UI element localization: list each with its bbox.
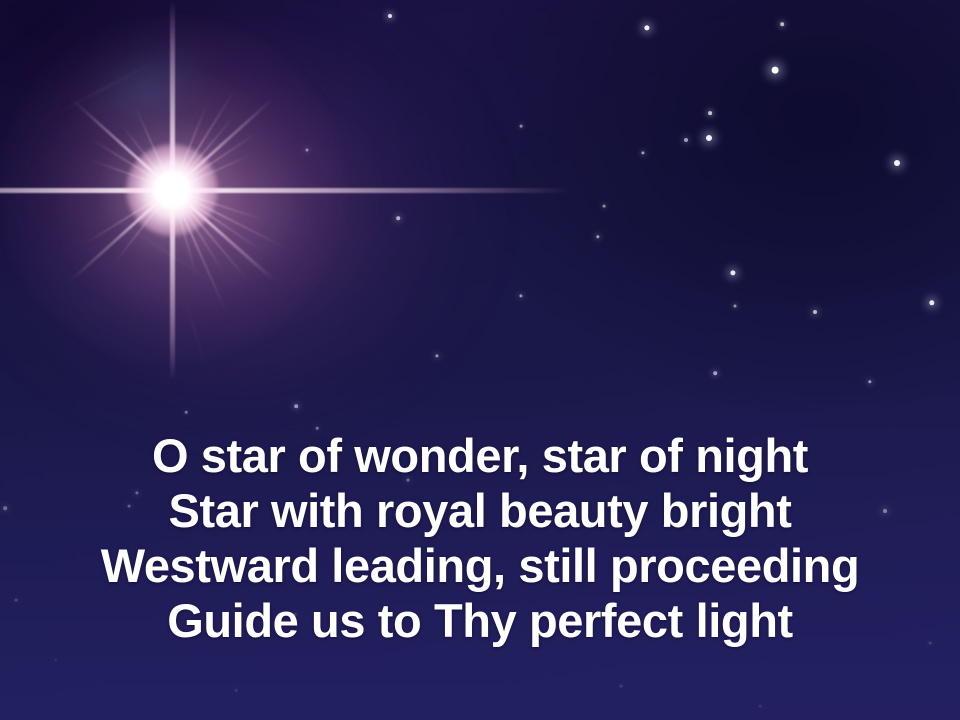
lyric-slide: O star of wonder, star of night Star wit… <box>0 0 960 720</box>
lyric-line-1: O star of wonder, star of night <box>0 428 960 483</box>
lyric-line-4: Guide us to Thy perfect light <box>0 593 960 648</box>
lyric-line-2: Star with royal beauty bright <box>0 483 960 538</box>
lyric-line-3: Westward leading, still proceeding <box>0 538 960 593</box>
lyric-text-block: O star of wonder, star of night Star wit… <box>0 428 960 648</box>
